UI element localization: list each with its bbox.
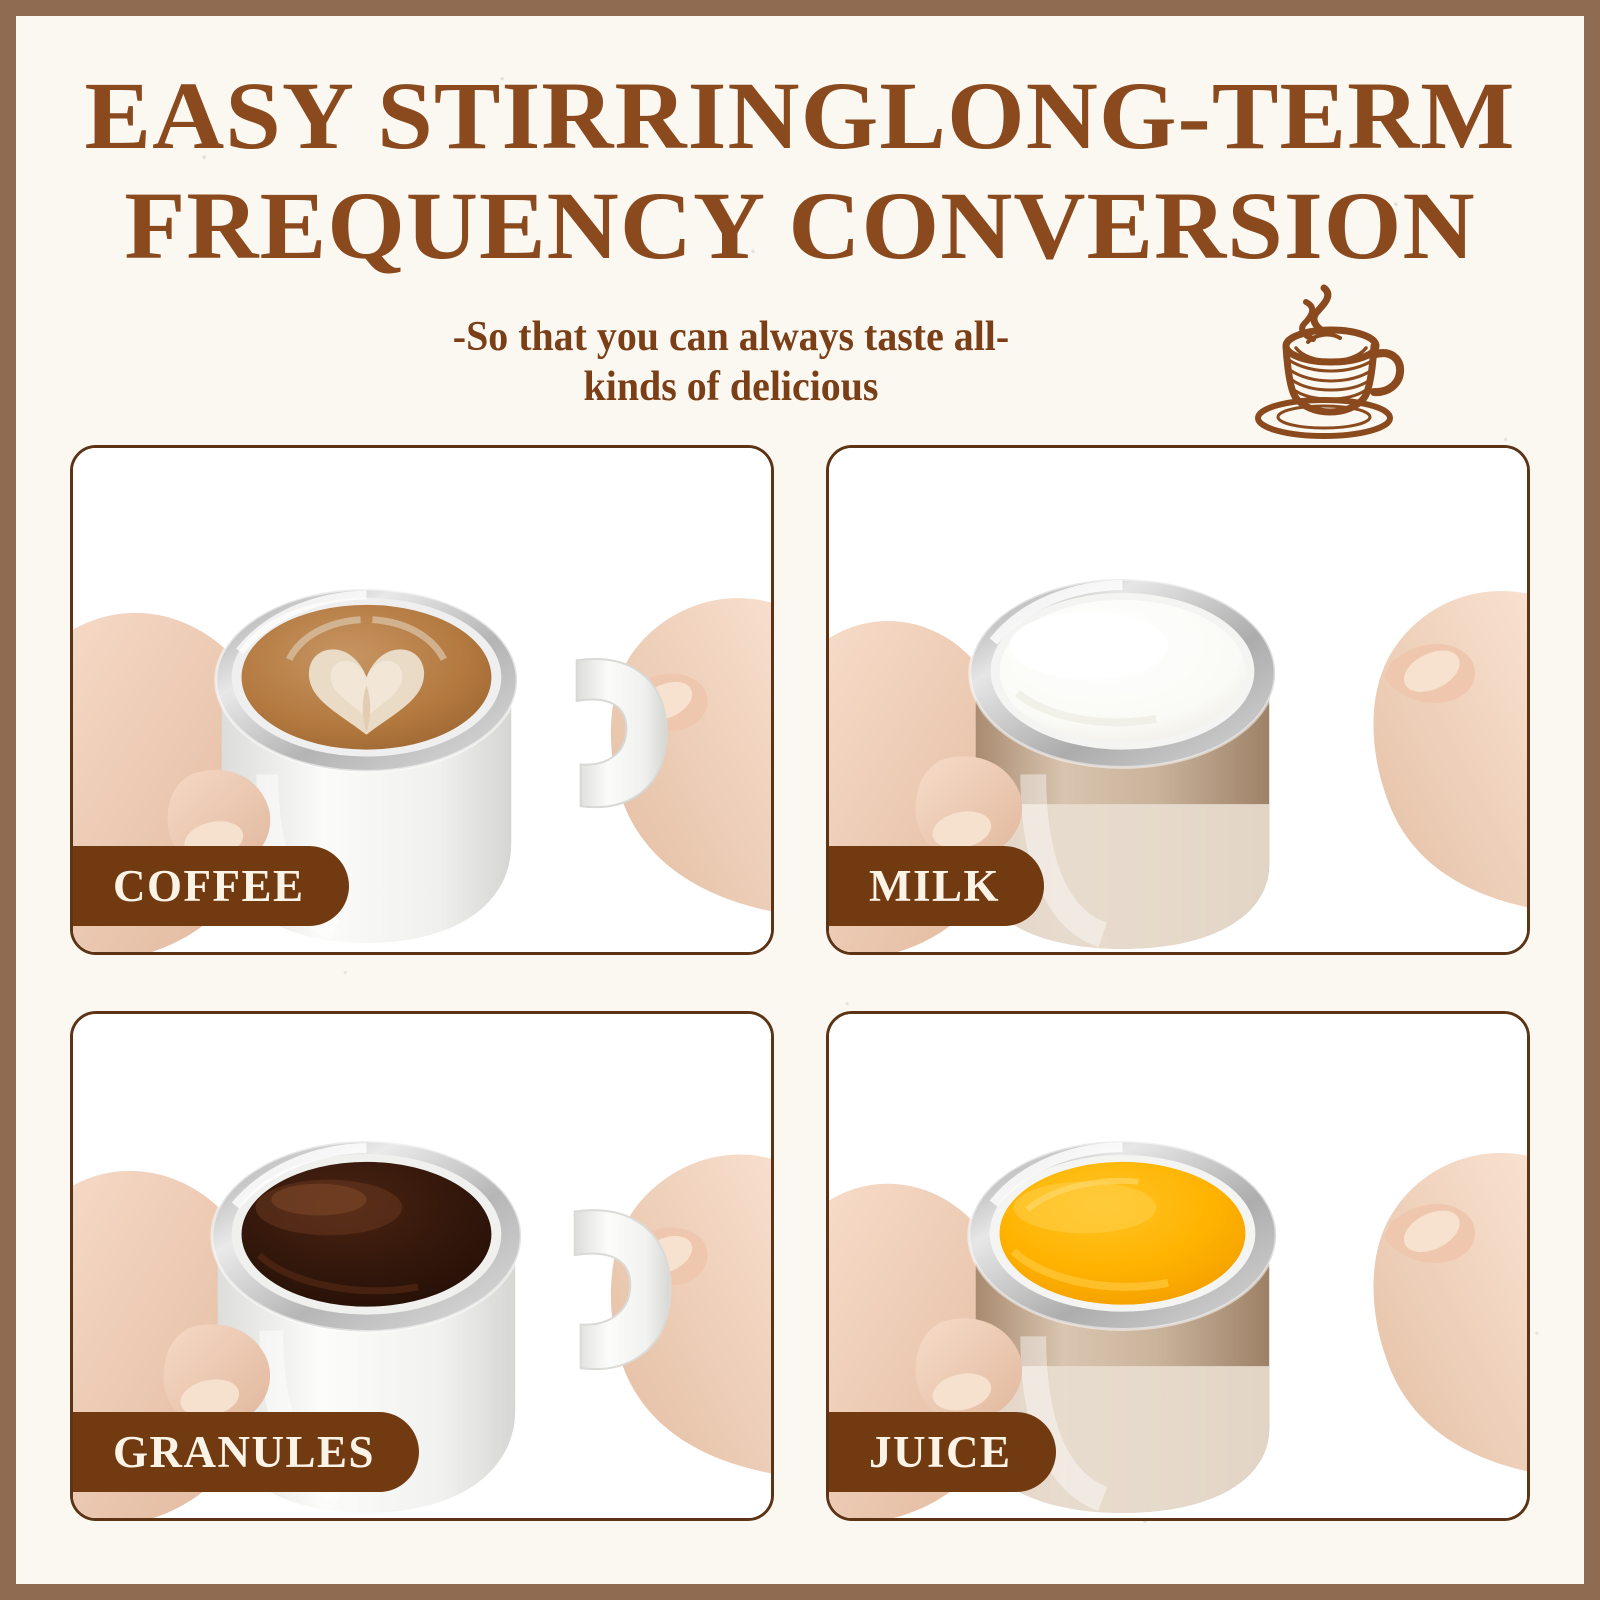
poster-paper-background: EASY STIRRINGLONG-TERM FREQUENCY CONVERS… xyxy=(16,16,1584,1584)
poster-root: EASY STIRRINGLONG-TERM FREQUENCY CONVERS… xyxy=(0,0,1600,1600)
badge-juice: JUICE xyxy=(829,1412,1056,1492)
subtitle-line-2: kinds of delicious xyxy=(337,362,1126,412)
coffee-cup-saucer-steam-icon xyxy=(1228,278,1408,446)
panel-milk[interactable]: MILK xyxy=(826,445,1530,955)
subtitle-line-1: -So that you can always taste all- xyxy=(337,312,1126,362)
panel-granules[interactable]: GRANULES xyxy=(70,1011,774,1521)
badge-granules: GRANULES xyxy=(73,1412,419,1492)
badge-label-granules: GRANULES xyxy=(113,1430,375,1475)
badge-coffee: COFFEE xyxy=(73,846,349,926)
headline-line-2: FREQUENCY CONVERSION xyxy=(0,174,1600,278)
headline-line-1: EASY STIRRINGLONG-TERM xyxy=(0,64,1600,168)
poster-header: EASY STIRRINGLONG-TERM FREQUENCY CONVERS… xyxy=(16,16,1584,436)
panel-coffee[interactable]: COFFEE xyxy=(70,445,774,955)
panel-juice[interactable]: JUICE xyxy=(826,1011,1530,1521)
badge-label-juice: JUICE xyxy=(869,1430,1012,1475)
product-use-case-grid: COFFEE xyxy=(70,445,1546,1555)
badge-milk: MILK xyxy=(829,846,1044,926)
badge-label-milk: MILK xyxy=(869,864,1000,909)
badge-label-coffee: COFFEE xyxy=(113,864,305,909)
